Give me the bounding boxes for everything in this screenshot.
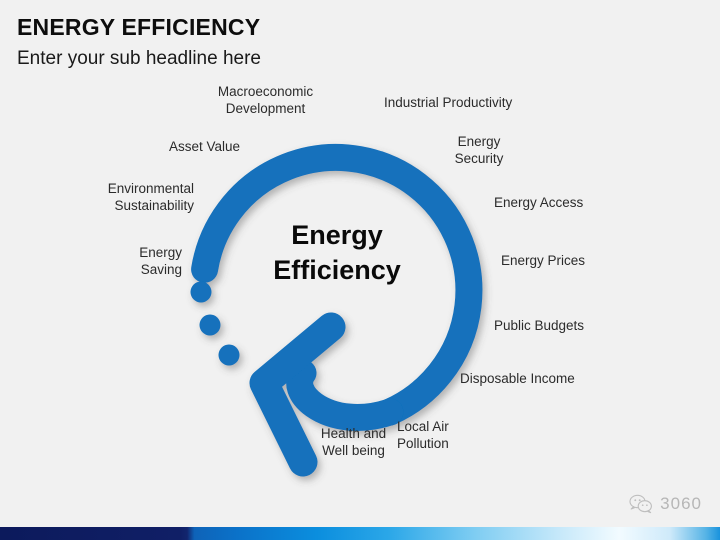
watermark-text: 3060: [660, 494, 702, 514]
node-label-macroeconomic-development: Macroeconomic Development: [193, 83, 338, 117]
node-label-industrial-productivity: Industrial Productivity: [384, 94, 564, 111]
watermark: 3060: [629, 494, 702, 514]
wechat-icon: [629, 494, 653, 514]
node-label-environmental-sustainability: Environmental Sustainability: [62, 180, 194, 214]
node-label-public-budgets: Public Budgets: [494, 317, 624, 334]
trailing-dot-2: [200, 315, 221, 336]
cycle-ring-arc: [205, 157, 469, 412]
node-label-energy-access: Energy Access: [494, 194, 624, 211]
node-label-disposable-income: Disposable Income: [460, 370, 620, 387]
slide-canvas: ENERGY EFFICIENCY Enter your sub headlin…: [0, 0, 720, 540]
node-label-health-and-well-being: Health and Well being: [311, 425, 396, 459]
node-label-energy-saving: Energy Saving: [100, 244, 182, 278]
node-label-local-air-pollution: Local Air Pollution: [397, 418, 497, 452]
node-label-energy-prices: Energy Prices: [501, 252, 621, 269]
node-label-asset-value: Asset Value: [115, 138, 240, 155]
trailing-dot-3: [219, 345, 240, 366]
trailing-dot-1: [191, 282, 212, 303]
cycle-arrow-shaft: [300, 373, 390, 417]
node-label-energy-security: Energy Security: [439, 133, 519, 167]
bottom-accent-bar: [0, 527, 720, 540]
